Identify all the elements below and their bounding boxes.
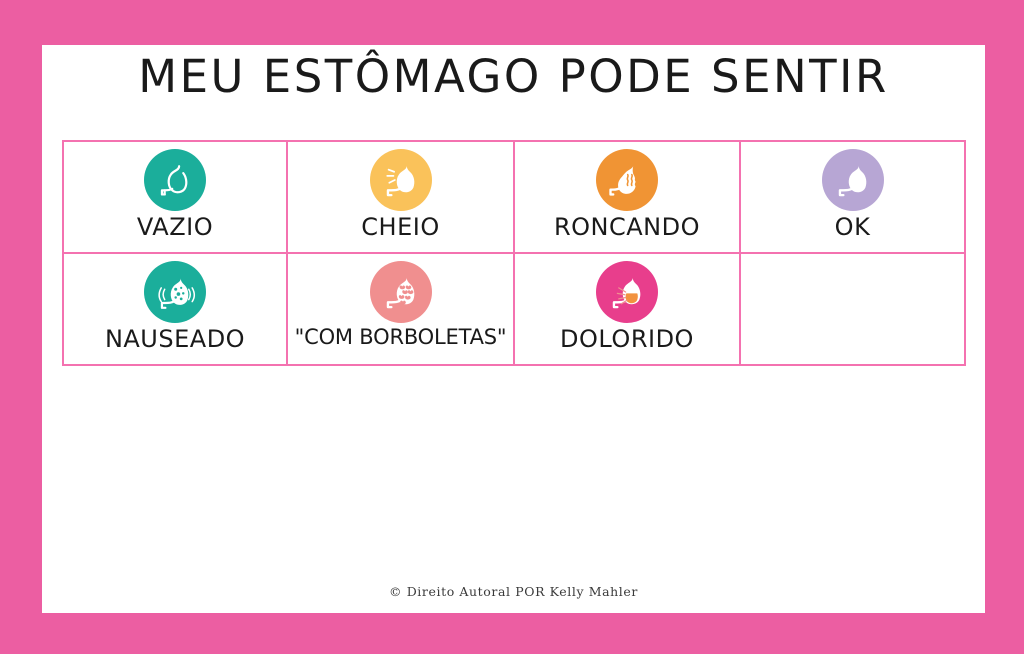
stomach-full-icon <box>370 149 432 211</box>
grid-cell-cheio[interactable]: CHEIO <box>287 141 514 253</box>
grid-cell-vazio[interactable]: VAZIO <box>63 141 287 253</box>
grid-cell-label: VAZIO <box>137 214 213 240</box>
grid-cell-com-borboletas[interactable]: "COM BORBOLETAS" <box>287 253 514 365</box>
grid-cell-label: DOLORIDO <box>560 326 694 352</box>
page-title: MEU ESTÔMAGO PODE SENTIR <box>42 50 985 103</box>
stomach-sore-icon <box>596 261 658 323</box>
table-row: VAZIO <box>63 141 965 253</box>
grid-cell-empty[interactable] <box>740 253 965 365</box>
poster-page: MEU ESTÔMAGO PODE SENTIR <box>42 45 985 613</box>
copyright-footer: © Direito Autoral POR Kelly Mahler <box>42 584 985 599</box>
grid-cell-label: OK <box>835 214 871 240</box>
grid-cell-label: RONCANDO <box>554 214 700 240</box>
grid-cell-label: CHEIO <box>361 214 439 240</box>
grid-cell-nauseado[interactable]: NAUSEADO <box>63 253 287 365</box>
grid-cell-ok[interactable]: OK <box>740 141 965 253</box>
grid-cell-roncando[interactable]: RONCANDO <box>514 141 740 253</box>
grid-cell-dolorido[interactable]: DOLORIDO <box>514 253 740 365</box>
stomach-empty-icon <box>144 149 206 211</box>
stomach-ok-icon <box>822 149 884 211</box>
poster-frame: MEU ESTÔMAGO PODE SENTIR <box>0 0 1024 654</box>
grid-cell-label: "COM BORBOLETAS" <box>295 326 507 349</box>
table-row: NAUSEADO <box>63 253 965 365</box>
stomach-growling-icon <box>596 149 658 211</box>
stomach-nauseous-icon <box>144 261 206 323</box>
grid-cell-label: NAUSEADO <box>105 326 245 352</box>
feelings-grid: VAZIO <box>62 140 966 366</box>
stomach-butterflies-icon <box>370 261 432 323</box>
